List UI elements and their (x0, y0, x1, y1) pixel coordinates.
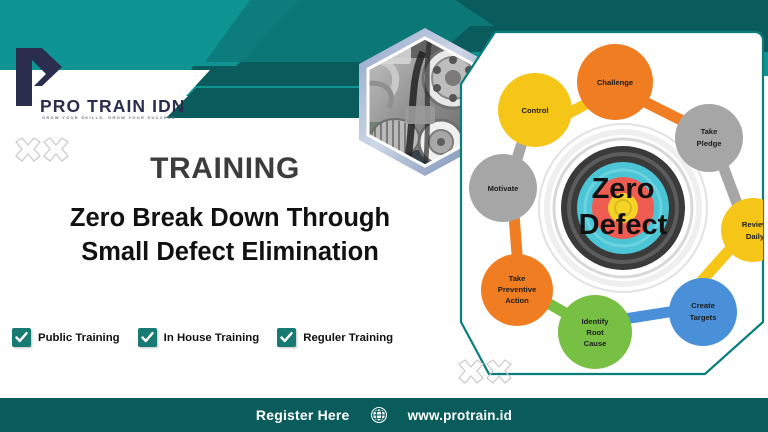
svg-text:Action: Action (505, 296, 529, 305)
svg-text:Root: Root (586, 328, 604, 337)
checkbox-checked-icon[interactable] (12, 328, 31, 347)
option-label: Reguler Training (303, 332, 393, 344)
checkbox-checked-icon[interactable] (138, 328, 157, 347)
option-in-house-training[interactable]: In House Training (138, 328, 260, 347)
diagram-node-challenge: Challenge (597, 78, 633, 87)
brand-tagline: GROW YOUR SKILLS. GROW YOUR SUCCESS (42, 115, 176, 120)
diagram-center-line1: Zero (592, 173, 655, 205)
training-type-options: Public Training In House Training Regule… (12, 328, 393, 347)
website-url[interactable]: www.protrain.id (408, 408, 513, 423)
option-label: In House Training (164, 332, 260, 344)
footer-bar: Register Here www.protrain.id (0, 398, 768, 432)
option-reguler-training[interactable]: Reguler Training (277, 328, 393, 347)
zero-defect-diagram: Zero Defect Challenge Take Pledge Review… (455, 22, 768, 392)
checkbox-checked-icon[interactable] (277, 328, 296, 347)
page-title-line1: Zero Break Down Through (10, 202, 450, 236)
diagram-node-take-pledge: Take (701, 127, 718, 136)
register-here-label[interactable]: Register Here (256, 407, 350, 423)
svg-text:Daily: Daily (746, 232, 765, 241)
diagram-node-create-targets: Create (691, 301, 715, 310)
brand-logo: PRO TRAIN IDN GROW YOUR SKILLS. GROW YOU… (12, 46, 182, 126)
training-poster: Zero Defect Challenge Take Pledge Review… (0, 0, 768, 432)
diagram-center-line2: Defect (579, 209, 668, 241)
diagram-node-control: Control (522, 106, 549, 115)
svg-text:Pledge: Pledge (697, 139, 722, 148)
globe-icon (370, 406, 388, 424)
option-public-training[interactable]: Public Training (12, 328, 120, 347)
page-title-line2: Small Defect Elimination (10, 236, 450, 270)
svg-text:Preventive: Preventive (498, 285, 536, 294)
page-kicker: TRAINING (0, 152, 450, 186)
brand-name: PRO TRAIN IDN (40, 96, 186, 117)
diagram-node-motivate: Motivate (488, 184, 519, 193)
option-label: Public Training (38, 332, 120, 344)
page-title: Zero Break Down Through Small Defect Eli… (10, 202, 450, 270)
diagram-node-identify-root-cause: Identify (581, 317, 609, 326)
x-decoration-bottom (455, 358, 517, 397)
svg-text:Cause: Cause (584, 339, 607, 348)
diagram-node-take-preventive-action: Take (509, 274, 526, 283)
svg-text:Targets: Targets (690, 313, 717, 322)
